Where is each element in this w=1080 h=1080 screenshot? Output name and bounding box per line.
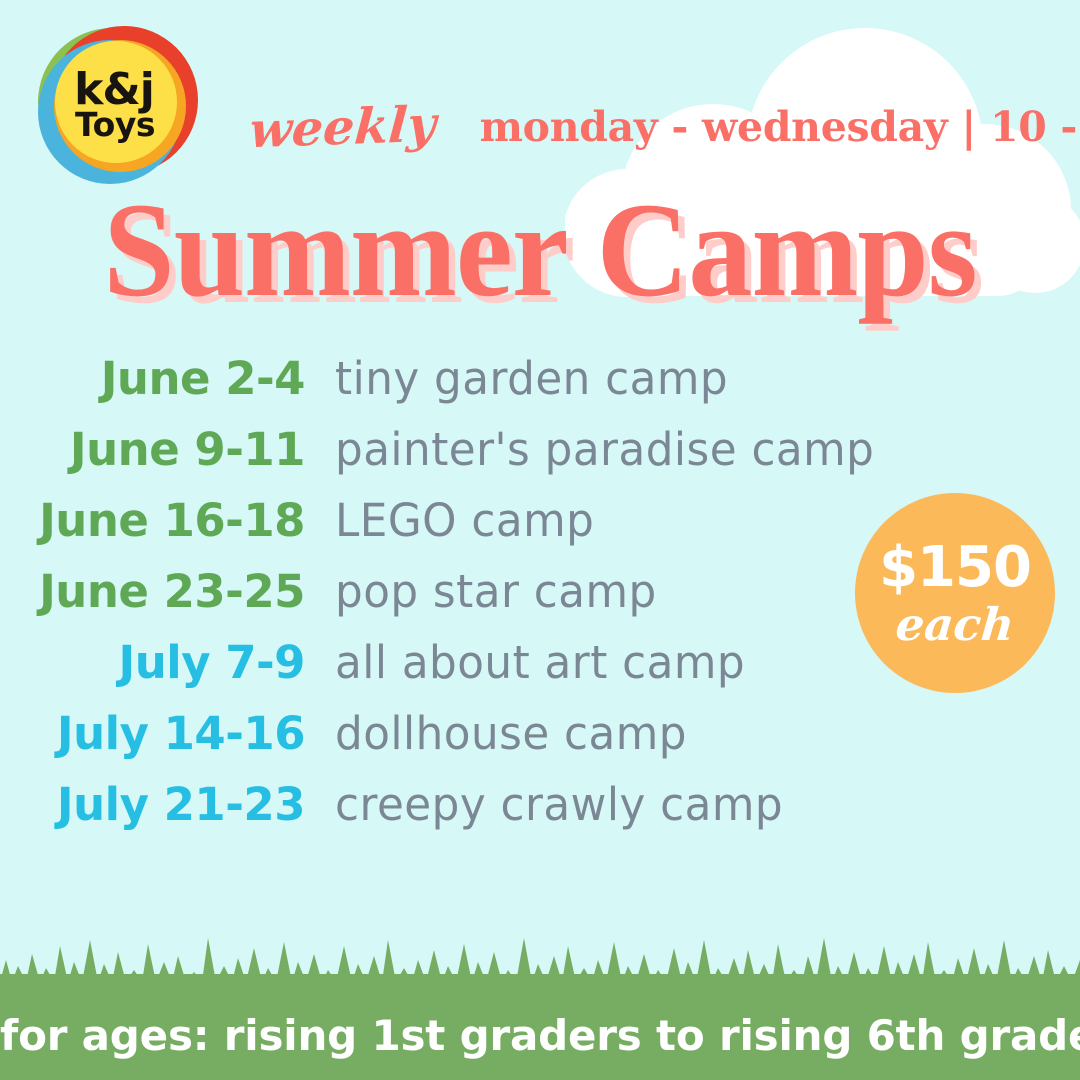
camp-name: pop star camp [335, 565, 657, 618]
price-unit: each [894, 602, 1016, 647]
camp-date: June 16-18 [0, 494, 305, 547]
weekly-label: weekly [248, 95, 438, 159]
camp-name: dollhouse camp [335, 707, 687, 760]
camp-name: creepy crawly camp [335, 778, 783, 831]
camp-row: July 21-23 creepy crawly camp [0, 778, 1080, 849]
brand-logo[interactable]: k&j Toys [32, 22, 198, 188]
camp-date: July 7-9 [0, 636, 305, 689]
logo-line-2: Toys [75, 111, 155, 138]
price-badge: $150 each [855, 493, 1055, 693]
camp-row: June 2-4 tiny garden camp [0, 352, 1080, 423]
price-amount: $150 [879, 540, 1031, 596]
camp-date: June 9-11 [0, 423, 305, 476]
footer-ages-note: for ages: rising 1st graders to rising 6… [0, 1011, 1080, 1060]
camp-date: June 2-4 [0, 352, 305, 405]
schedule-label: monday - wednesday | 10 - 2 [480, 103, 1080, 151]
camp-row: July 14-16 dollhouse camp [0, 707, 1080, 778]
camp-name: LEGO camp [335, 494, 594, 547]
camp-row: June 9-11 painter's paradise camp [0, 423, 1080, 494]
camp-date: July 21-23 [0, 778, 305, 831]
camp-name: painter's paradise camp [335, 423, 874, 476]
camp-date: June 23-25 [0, 565, 305, 618]
logo-wordmark: k&j Toys [32, 22, 198, 188]
page-title: Summer Camps [27, 183, 1053, 318]
header-tagline: weekly monday - wednesday | 10 - 2 [250, 96, 1050, 158]
summer-camps-poster: k&j Toys weekly monday - wednesday | 10 … [0, 0, 1080, 1080]
camp-name: all about art camp [335, 636, 745, 689]
logo-line-1: k&j [74, 72, 154, 108]
camp-name: tiny garden camp [335, 352, 728, 405]
camp-date: July 14-16 [0, 707, 305, 760]
